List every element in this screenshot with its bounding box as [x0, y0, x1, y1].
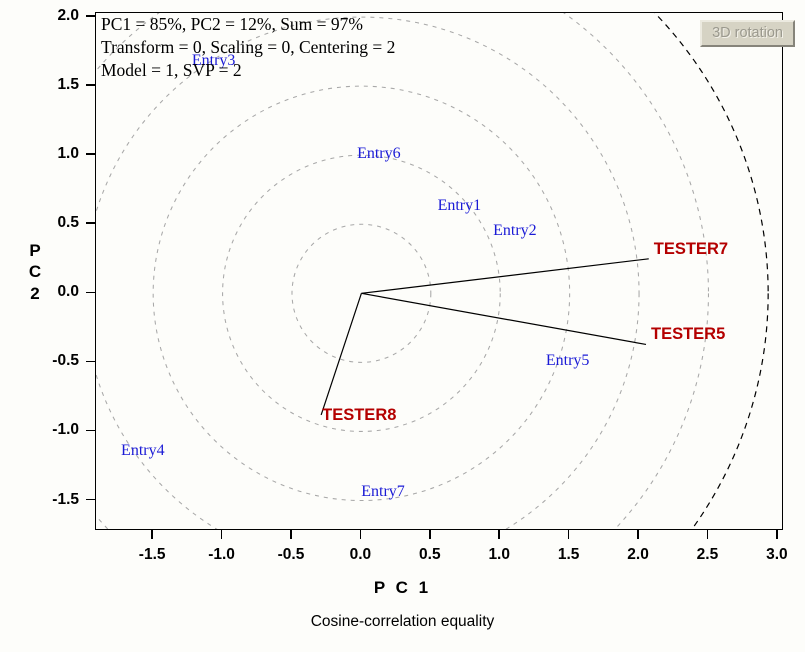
vector-tester5: [361, 293, 646, 344]
point-label-entry4: Entry4: [121, 442, 165, 460]
y-tick-label: -1.0: [29, 421, 79, 439]
x-tick-mark: [568, 530, 570, 539]
y-tick-label: -0.5: [29, 352, 79, 370]
x-tick-label: 2.5: [697, 546, 719, 564]
y-tick-mark: [86, 292, 95, 294]
x-tick-mark: [776, 530, 778, 539]
x-tick-label: 1.0: [488, 546, 510, 564]
x-tick-mark: [707, 530, 709, 539]
y-tick-mark: [86, 222, 95, 224]
x-tick-mark: [221, 530, 223, 539]
point-label-entry7: Entry7: [361, 483, 405, 501]
y-tick-label: 0.5: [29, 214, 79, 232]
x-tick-label: -1.0: [208, 546, 235, 564]
x-tick-label: 2.0: [627, 546, 649, 564]
point-label-tester7: TESTER7: [654, 240, 728, 259]
point-label-entry6: Entry6: [357, 145, 401, 163]
concentric-circle-2: [95, 17, 639, 530]
vector-tester7: [361, 259, 648, 294]
y-tick-label: -1.5: [29, 491, 79, 509]
x-tick-mark: [151, 530, 153, 539]
y-axis-title: P C 2: [22, 240, 48, 304]
x-tick-mark: [637, 530, 639, 539]
x-tick-mark: [429, 530, 431, 539]
x-tick-mark: [498, 530, 500, 539]
x-tick-label: -1.5: [139, 546, 166, 564]
concentric-circle-0.5: [292, 224, 431, 362]
annotation-line-1: PC1 = 85%, PC2 = 12%, Sum = 97%: [101, 13, 395, 36]
point-label-entry2: Entry2: [493, 222, 537, 240]
x-tick-label: 0.0: [350, 546, 372, 564]
x-axis-title: P C 1: [0, 578, 805, 598]
x-tick-mark: [360, 530, 362, 539]
outer-boundary-circle: [95, 12, 768, 530]
y-tick-mark: [86, 499, 95, 501]
point-label-entry5: Entry5: [546, 352, 590, 370]
chart-canvas: [96, 13, 783, 530]
annotation-line-3: Model = 1, SVP = 2: [101, 59, 395, 82]
vector-tester8: [321, 293, 361, 415]
annotation-line-2: Transform = 0, Scaling = 0, Centering = …: [101, 36, 395, 59]
y-tick-mark: [86, 84, 95, 86]
y-axis-title-char-2: 2: [22, 283, 48, 304]
three-d-rotation-button[interactable]: 3D rotation: [700, 20, 795, 47]
y-tick-label: 1.5: [29, 76, 79, 94]
y-tick-label: 1.0: [29, 145, 79, 163]
biplot-window: TESTER7TESTER5TESTER8Entry1Entry2Entry3E…: [0, 0, 805, 652]
chart-subtitle: Cosine-correlation equality: [0, 613, 805, 631]
x-tick-mark: [290, 530, 292, 539]
point-label-tester8: TESTER8: [322, 406, 396, 425]
plot-area: [95, 12, 783, 530]
annotation-block: PC1 = 85%, PC2 = 12%, Sum = 97% Transfor…: [101, 13, 395, 81]
y-tick-mark: [86, 361, 95, 363]
y-axis-title-char-p: P: [22, 240, 48, 261]
x-tick-label: 1.5: [558, 546, 580, 564]
y-tick-label: 2.0: [29, 7, 79, 25]
concentric-circle-2.5: [95, 12, 708, 530]
y-tick-mark: [86, 430, 95, 432]
point-label-tester5: TESTER5: [651, 325, 725, 344]
x-tick-label: 0.5: [419, 546, 441, 564]
y-tick-mark: [86, 15, 95, 17]
x-tick-label: -0.5: [278, 546, 305, 564]
point-label-entry1: Entry1: [438, 197, 482, 215]
x-tick-label: 3.0: [766, 546, 788, 564]
y-tick-mark: [86, 153, 95, 155]
y-axis-title-char-c: C: [22, 261, 48, 282]
